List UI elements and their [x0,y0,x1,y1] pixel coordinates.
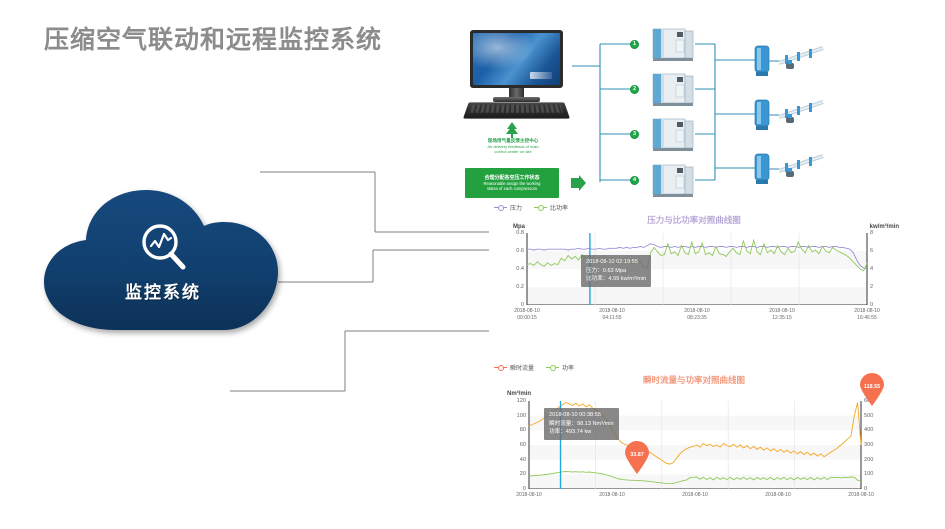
legend-label: 功率 [562,363,574,372]
compressor-unit-1 [652,27,694,61]
tooltip-line-1: 瞬时流量：98.13 Nm³/min [549,420,614,429]
axis-tick-label: 400 [864,427,886,433]
tooltip-timestamp: 2018-08-10 02:19:55 [586,258,646,267]
green-info-box: 合理分配各空压工作状态 Reasonable assign the workin… [465,168,559,198]
node-dot-1: 1 [630,40,639,49]
axis-tick-label: 60 [497,442,526,448]
x-axis-tick-label: 2018-08-10 [748,492,808,499]
legend-item-specific-power[interactable]: 比功率 [534,203,568,212]
tooltip-line-2: 比功率：4.99 kw/m³/min [586,275,646,284]
legend-marker-icon [534,204,547,211]
caption-en-line2: control center on site [455,149,571,154]
compressor-unit-2 [652,72,694,106]
axis-tick-label: 2 [870,284,890,290]
legend-label: 压力 [510,203,522,212]
x-axis-tick-label: 2018-08-1008:23:35 [667,308,727,321]
chart2-title: 瞬时流量与功率对照曲线图 [489,374,899,386]
chart1-plot-area[interactable] [489,233,899,305]
x-axis-tick-label: 2018-08-1004:11:55 [582,308,642,321]
node-dot-2: 2 [630,85,639,94]
chart1-legend[interactable]: 压力 比功率 [494,203,568,212]
pin-value: 118.55 [864,384,880,390]
cloud-label: 监控系统 [38,278,288,303]
legend-item-power[interactable]: 功率 [546,363,574,372]
x-axis-tick-label: 2018-08-10 [582,492,642,499]
x-axis-tick-label: 2018-08-1000:00:15 [497,308,557,321]
axis-tick-label: 100 [864,471,886,477]
x-axis-tick-label: 2018-08-10 [831,492,891,499]
green-arrow-icon [569,174,587,192]
chart2-legend[interactable]: 瞬时流量 功率 [494,363,574,372]
tree-icon [505,122,519,138]
x-axis-tick-label: 2018-08-1016:46:55 [837,308,897,321]
legend-label: 瞬时流量 [510,363,534,372]
air-tank-assembly-2 [753,97,839,131]
green-box-en-line2: states of each compressors [487,186,537,191]
axis-tick-label: 0.8 [497,230,524,236]
legend-label: 比功率 [550,203,568,212]
x-axis-tick-label: 2018-08-10 [665,492,725,499]
axis-tick-label: 8 [870,230,890,236]
pressure-specific-power-chart[interactable]: 压力 比功率 压力与比功率对照曲线图 Mpa kw/m³/min 0.80.60… [489,203,899,333]
axis-tick-label: 20 [497,471,526,477]
axis-tick-label: 120 [497,398,526,404]
monitoring-system-cloud[interactable]: 监控系统 [38,188,288,333]
legend-item-flow[interactable]: 瞬时流量 [494,363,534,372]
monitor-caption: 现场用气量反馈主控中心 Air delivery feedback of mai… [455,138,571,154]
axis-tick-label: 40 [497,457,526,463]
node-dot-4: 4 [630,176,639,185]
magnifier-chart-icon [136,220,192,276]
axis-tick-label: 500 [864,413,886,419]
chart1-tooltip: 2018-08-10 02:19:55 压力：0.63 Mpa 比功率：4.99… [581,255,651,287]
legend-marker-icon [494,364,507,371]
axis-tick-label: 0.6 [497,248,524,254]
flow-power-chart[interactable]: 瞬时流量 功率 瞬时流量与功率对照曲线图 Nm³/min 12010080604… [489,363,899,508]
desktop-monitor-icon [462,30,572,120]
slide-canvas: 压缩空气联动和远程监控系统 监控系统 [0,0,945,529]
page-title: 压缩空气联动和远程监控系统 [44,20,382,56]
compressor-unit-4 [652,163,694,197]
axis-tick-label: 6 [870,248,890,254]
x-axis-tick-label: 2018-08-1012:35:15 [752,308,812,321]
tooltip-line-1: 压力：0.63 Mpa [586,267,646,276]
air-tank-assembly-1 [753,43,839,77]
x-axis-tick-label: 2018-08-10 [499,492,559,499]
chart2-y-unit: Nm³/min [507,391,531,397]
node-dot-3: 3 [630,130,639,139]
legend-item-pressure[interactable]: 压力 [494,203,522,212]
axis-tick-label: 4 [870,266,890,272]
axis-tick-label: 300 [864,442,886,448]
tooltip-timestamp: 2018-08-10 00:38:55 [549,411,614,420]
axis-tick-label: 0.4 [497,266,524,272]
axis-tick-label: 100 [497,413,526,419]
compressor-unit-3 [652,117,694,151]
chart2-pin-marker-low[interactable]: 33.87 [624,441,650,474]
pin-value: 33.87 [630,452,644,458]
air-tank-assembly-3 [753,151,839,185]
axis-tick-label: 80 [497,427,526,433]
chart1-title: 压力与比功率对照曲线图 [489,214,899,226]
chart2-pin-marker-high[interactable]: 118.55 [859,373,885,406]
legend-marker-icon [546,364,559,371]
axis-tick-label: 200 [864,457,886,463]
system-network-diagram: 现场用气量反馈主控中心 Air delivery feedback of mai… [437,22,945,197]
tooltip-line-2: 功率：493.74 kw [549,428,614,437]
chart2-tooltip: 2018-08-10 00:38:55 瞬时流量：98.13 Nm³/min 功… [544,408,619,440]
axis-tick-label: 0.2 [497,284,524,290]
legend-marker-icon [494,204,507,211]
